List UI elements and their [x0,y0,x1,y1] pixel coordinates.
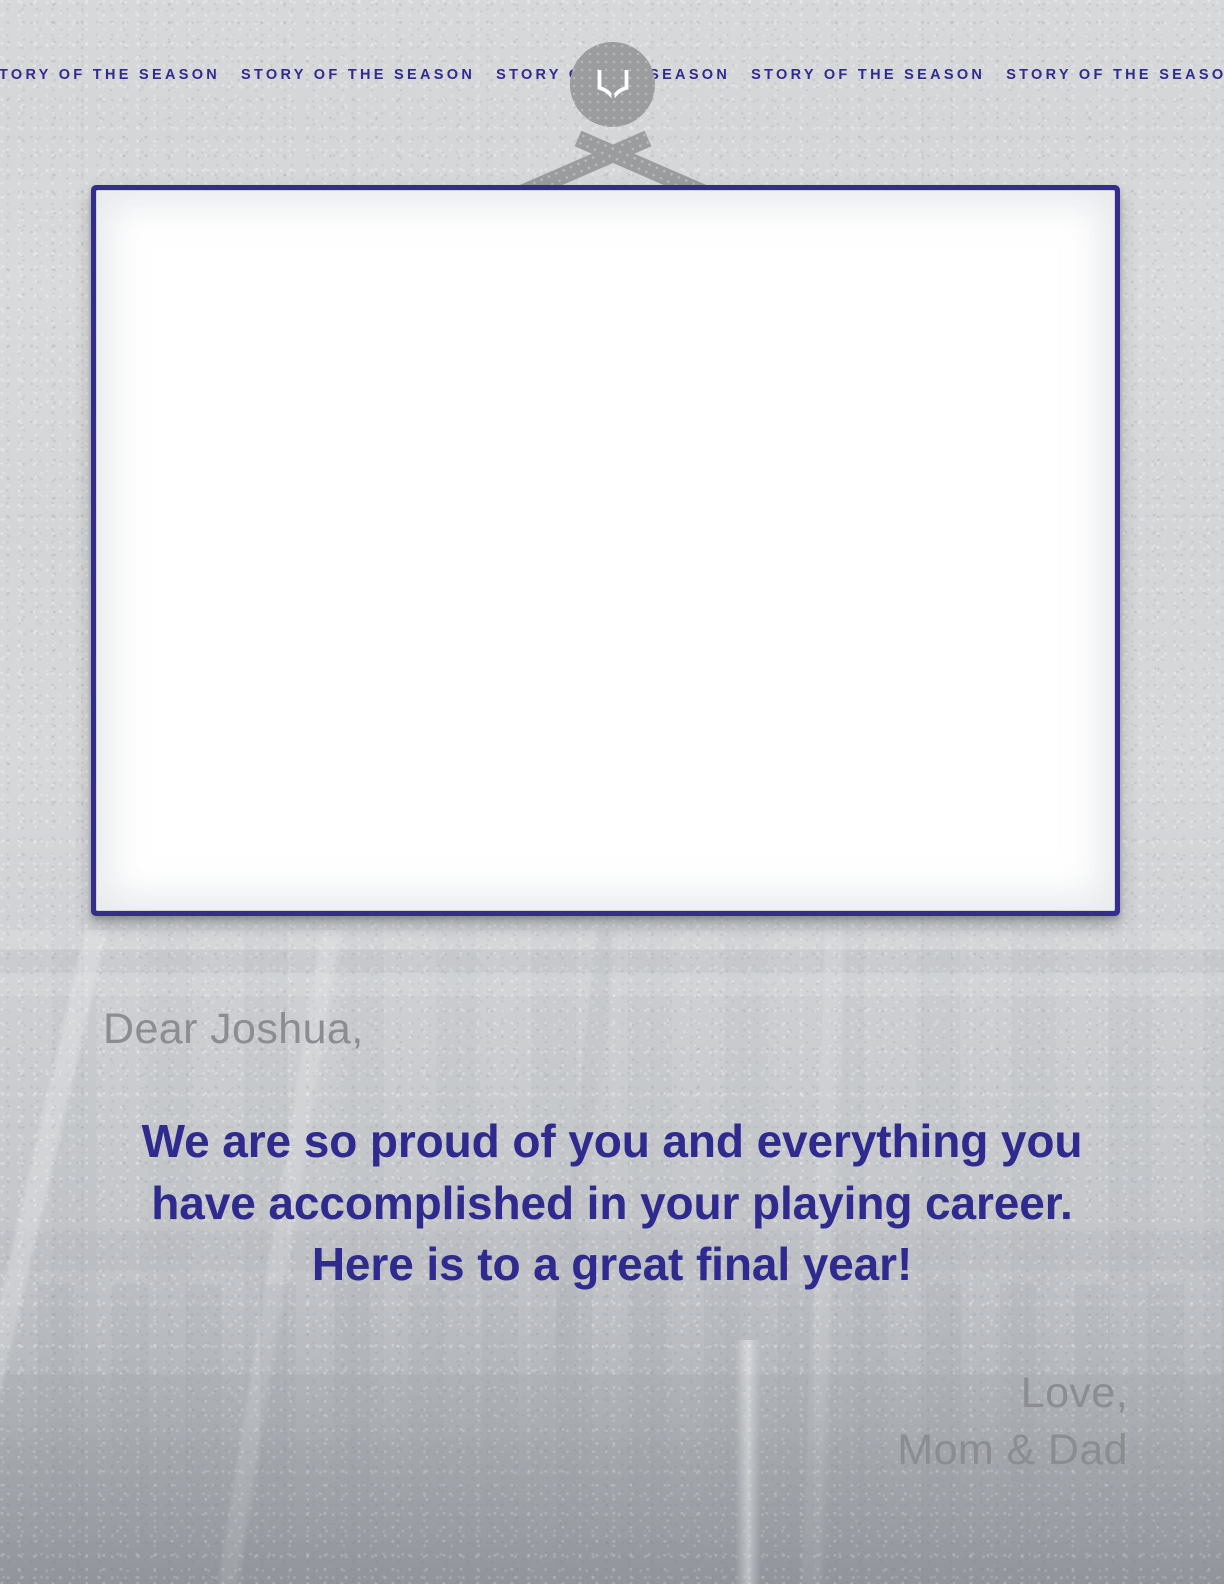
signoff-line-2: Mom & Dad [0,1422,1128,1479]
medallion-badge [570,42,655,127]
signoff-line-1: Love, [0,1365,1128,1422]
letter-body: Dear Joshua, We are so proud of you and … [0,1005,1224,1479]
salutation-text: Dear Joshua, [103,1005,1224,1054]
greeting-card-page: STORY OF THE SEASONSTORY OF THE SEASONST… [0,0,1224,1584]
message-text: We are so proud of you and everything yo… [97,1111,1127,1295]
signoff-block: Love, Mom & Dad [0,1365,1128,1479]
marquee-segment: STORY OF THE SEASON [0,67,220,83]
photo-placeholder[interactable] [96,190,1115,911]
marquee-segment: STORY OF THE SEASON [1006,67,1224,83]
marquee-segment: STORY OF THE SEASON [751,67,985,83]
open-book-icon [590,66,636,104]
photo-frame[interactable] [91,185,1120,916]
marquee-segment: STORY OF THE SEASON [241,67,475,83]
